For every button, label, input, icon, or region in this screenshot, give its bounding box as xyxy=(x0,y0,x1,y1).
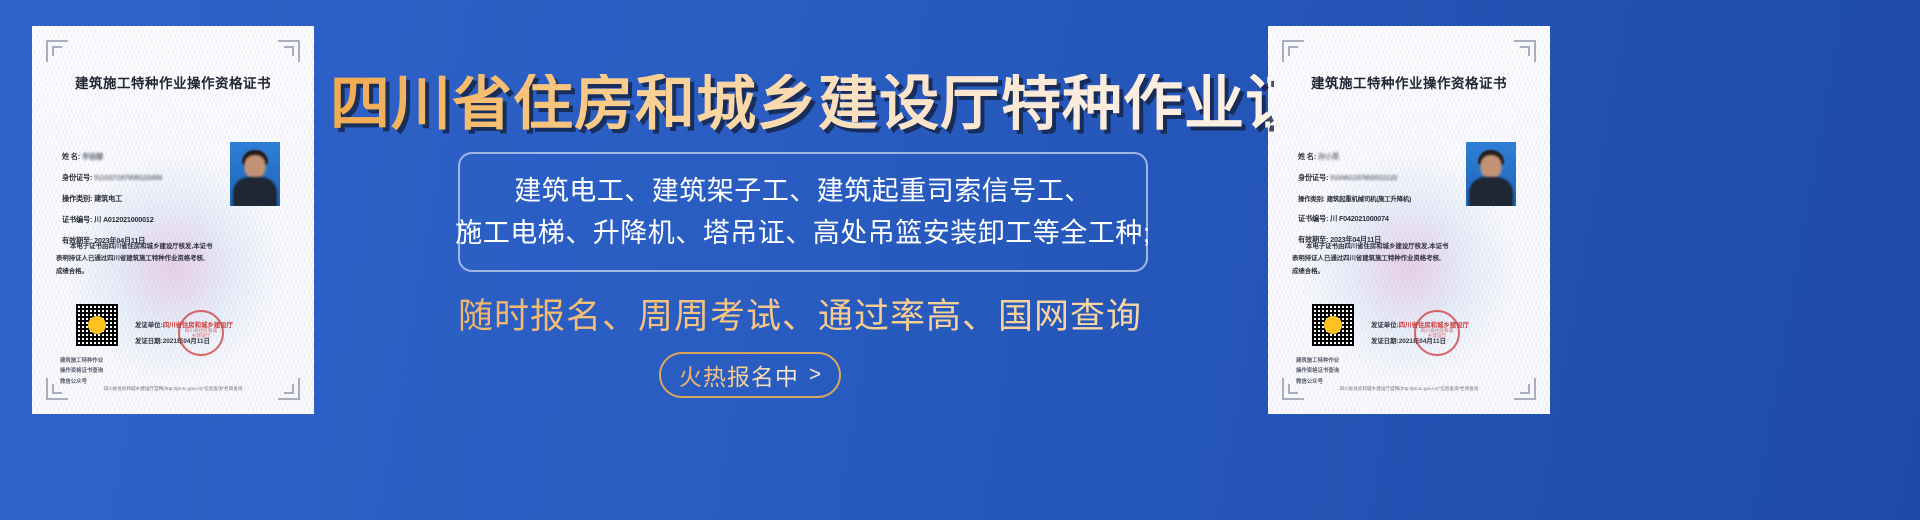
qr-code-icon xyxy=(1312,304,1354,346)
field-value: 川 F042021000074 xyxy=(1330,214,1389,224)
official-seal: 四川省住房和城乡建设厅 xyxy=(178,310,224,356)
field-operation-type: 操作类别: 建筑电工 xyxy=(62,194,252,204)
official-seal: 四川省住房和城乡建设厅 xyxy=(1414,310,1460,356)
side-note-line: 操作资格证书查询 xyxy=(60,366,180,376)
field-certificate-number: 证书编号: 川 F042021000074 xyxy=(1298,214,1488,224)
scope-line: 建筑电工、建筑架子工、建筑起重司索信号工、 xyxy=(514,173,1092,209)
field-value: 建筑起重机械司机(施工升降机) xyxy=(1327,194,1411,203)
chevron-right-icon: > xyxy=(809,364,821,385)
field-value: 孙小英 xyxy=(1318,152,1339,162)
field-label: 证书编号: xyxy=(62,215,92,225)
slogan-text: 随时报名、周周考试、通过率高、国网查询 xyxy=(330,288,1270,339)
issue-label: 发证单位: xyxy=(1371,322,1399,329)
statement-line: 表明持证人已通过四川省建筑施工特种作业资格考核, xyxy=(1292,253,1528,265)
statement-line: 表明持证人已通过四川省建筑施工特种作业资格考核, xyxy=(56,253,292,265)
certificate-footer: 四川省住房和城乡建设厅官网(http://jst.sc.gov.cn)“信息查询… xyxy=(32,386,314,392)
field-value: 511027197908123456 xyxy=(94,173,162,182)
certificate-footer: 四川省住房和城乡建设厅官网(http://jst.sc.gov.cn)“信息查询… xyxy=(1268,386,1550,392)
promo-banner: 建筑施工特种作业操作资格证书 姓 名: 李丽娜 身份证号: 5110271979… xyxy=(0,0,1920,520)
certificate-title: 建筑施工特种作业操作资格证书 xyxy=(1268,72,1550,92)
statement-line: 成绩合格。 xyxy=(1292,266,1528,278)
statement-line: 本电子证书由四川省住房和城乡建设厅核发,本证书 xyxy=(56,241,292,253)
seal-text: 四川省住房和城乡建设厅 xyxy=(1419,328,1455,338)
issue-date-label: 发证日期: xyxy=(1371,338,1399,345)
field-label: 身份证号: xyxy=(1298,173,1328,183)
certificate-card-right[interactable]: 建筑施工特种作业操作资格证书 姓 名: 孙小英 身份证号: 5104611978… xyxy=(1268,26,1550,414)
field-id-number: 身份证号: 511027197908123456 xyxy=(62,173,252,183)
field-label: 姓 名: xyxy=(62,152,80,162)
field-label: 操作类别: xyxy=(62,194,92,204)
field-label: 姓 名: xyxy=(1298,152,1316,162)
enroll-now-label: 火热报名中 xyxy=(679,358,799,392)
side-note-line: 建筑施工特种作业 xyxy=(60,356,180,366)
certificate-statement: 本电子证书由四川省住房和城乡建设厅核发,本证书 表明持证人已通过四川省建筑施工特… xyxy=(1292,241,1528,278)
field-operation-type: 操作类别: 建筑起重机械司机(施工升降机) xyxy=(1298,194,1488,203)
certificate-fields: 姓 名: 李丽娜 身份证号: 511027197908123456 操作类别: … xyxy=(62,152,252,246)
ornament-corner-top-right xyxy=(278,40,300,62)
side-note-line: 建筑施工特种作业 xyxy=(1296,356,1416,366)
qr-code-icon xyxy=(76,304,118,346)
face-shape xyxy=(1481,155,1502,179)
statement-line: 本电子证书由四川省住房和城乡建设厅核发,本证书 xyxy=(1292,241,1528,253)
torso-shape xyxy=(233,177,277,206)
certificate-title: 建筑施工特种作业操作资格证书 xyxy=(32,72,314,92)
field-name: 姓 名: 李丽娜 xyxy=(62,152,252,162)
face-shape xyxy=(245,155,266,179)
certificate-side-notes: 建筑施工特种作业 操作资格证书查询 微信公众号 xyxy=(1296,356,1416,387)
certificate-statement: 本电子证书由四川省住房和城乡建设厅核发,本证书 表明持证人已通过四川省建筑施工特… xyxy=(56,241,292,278)
issue-date-label: 发证日期: xyxy=(135,338,163,345)
field-certificate-number: 证书编号: 川 A012021000012 xyxy=(62,215,252,225)
certificate-fields: 姓 名: 孙小英 身份证号: 510461197802011122 操作类别: … xyxy=(1298,152,1488,245)
torso-shape xyxy=(1469,177,1513,206)
ornament-corner-top-right xyxy=(1514,40,1536,62)
ornament-corner-top-left xyxy=(46,40,68,62)
field-label: 操作类别: xyxy=(1298,194,1325,203)
field-value: 李丽娜 xyxy=(82,152,103,162)
ornament-corner-top-left xyxy=(1282,40,1304,62)
field-label: 身份证号: xyxy=(62,173,92,183)
enroll-now-button[interactable]: 火热报名中 > xyxy=(659,352,841,398)
field-label: 证书编号: xyxy=(1298,214,1328,224)
certificate-card-left[interactable]: 建筑施工特种作业操作资格证书 姓 名: 李丽娜 身份证号: 5110271979… xyxy=(32,26,314,414)
qr-center-badge xyxy=(1324,316,1342,334)
seal-text: 四川省住房和城乡建设厅 xyxy=(183,328,219,338)
field-id-number: 身份证号: 510461197802011122 xyxy=(1298,173,1488,183)
field-name: 姓 名: 孙小英 xyxy=(1298,152,1488,162)
banner-content: 四川省住房和城乡建设厅特种作业证 建筑电工、建筑架子工、建筑起重司索信号工、 施… xyxy=(330,0,1270,520)
field-value: 川 A012021000012 xyxy=(94,215,153,225)
field-value: 建筑电工 xyxy=(94,194,122,204)
page-title: 四川省住房和城乡建设厅特种作业证 xyxy=(330,74,1270,134)
side-note-line: 操作资格证书查询 xyxy=(1296,366,1416,376)
scope-callout-box: 建筑电工、建筑架子工、建筑起重司索信号工、 施工电梯、升降机、塔吊证、高处吊篮安… xyxy=(458,152,1148,272)
issue-label: 发证单位: xyxy=(135,322,163,329)
field-value: 510461197802011122 xyxy=(1330,173,1397,182)
scope-line: 施工电梯、升降机、塔吊证、高处吊篮安装卸工等全工种; xyxy=(455,215,1151,251)
portrait-photo xyxy=(1466,142,1516,206)
statement-line: 成绩合格。 xyxy=(56,266,292,278)
certificate-side-notes: 建筑施工特种作业 操作资格证书查询 微信公众号 xyxy=(60,356,180,387)
portrait-photo xyxy=(230,142,280,206)
qr-center-badge xyxy=(88,316,106,334)
